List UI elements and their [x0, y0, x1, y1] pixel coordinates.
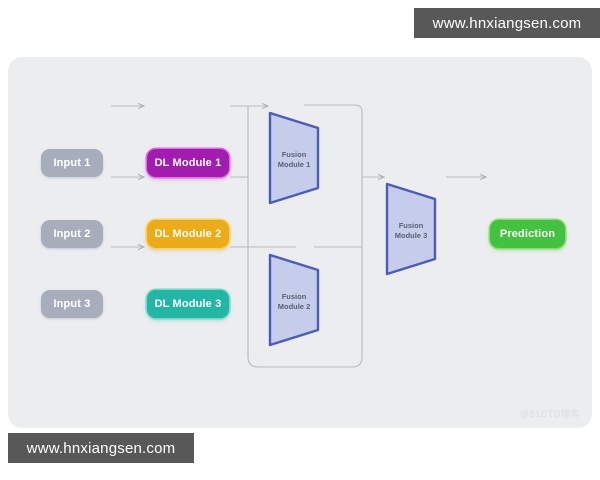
node-fusion-module-1[interactable]: Fusion Module 1 — [266, 109, 322, 207]
node-prediction[interactable]: Prediction — [490, 220, 565, 248]
node-dl-module-2[interactable]: DL Module 2 — [147, 220, 229, 248]
node-input-3[interactable]: Input 3 — [41, 290, 103, 318]
node-input-1-label: Input 1 — [53, 157, 90, 169]
diagram-canvas: Input 1 Input 2 Input 3 DL Module 1 DL M… — [8, 57, 592, 428]
node-dl-module-1[interactable]: DL Module 1 — [147, 149, 229, 177]
node-fusion-module-2[interactable]: Fusion Module 2 — [266, 251, 322, 349]
node-fusion-module-3[interactable]: Fusion Module 3 — [383, 180, 439, 278]
node-dl-module-2-label: DL Module 2 — [155, 228, 222, 240]
fusion-2-shape — [270, 255, 318, 345]
node-dl-module-3-label: DL Module 3 — [155, 298, 222, 310]
node-input-3-label: Input 3 — [53, 298, 90, 310]
watermark-bottom: www.hnxiangsen.com — [8, 433, 194, 463]
node-prediction-label: Prediction — [500, 228, 555, 240]
fusion-1-shape — [270, 113, 318, 203]
page-root: www.hnxiangsen.com — [0, 0, 600, 480]
fusion-3-shape — [387, 184, 435, 274]
node-input-2-label: Input 2 — [53, 228, 90, 240]
node-dl-module-1-label: DL Module 1 — [155, 157, 222, 169]
node-input-1[interactable]: Input 1 — [41, 149, 103, 177]
node-input-2[interactable]: Input 2 — [41, 220, 103, 248]
watermark-top: www.hnxiangsen.com — [414, 8, 600, 38]
watermark-faint: @51CTO博客 — [520, 407, 580, 420]
node-dl-module-3[interactable]: DL Module 3 — [147, 290, 229, 318]
